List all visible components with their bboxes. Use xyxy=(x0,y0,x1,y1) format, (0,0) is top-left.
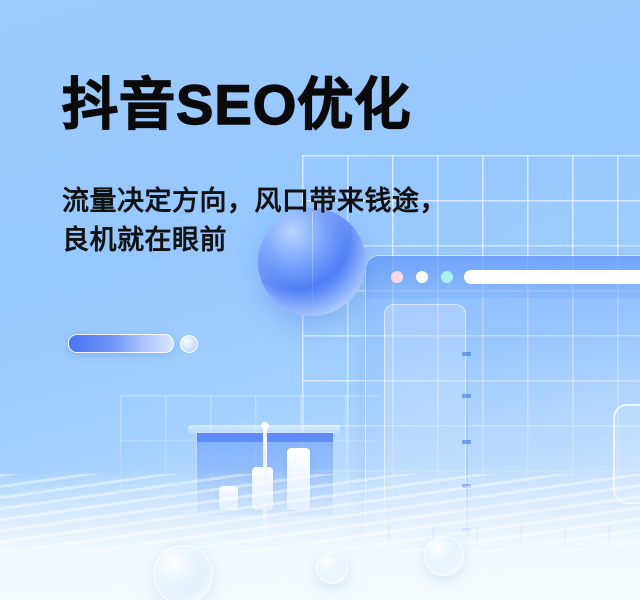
page-title: 抖音SEO优化 xyxy=(62,76,411,135)
traffic-light-pink-icon xyxy=(391,271,403,283)
page-subtitle: 流量决定方向，风口带来钱途， 良机就在眼前 xyxy=(62,182,447,260)
progress-slider[interactable] xyxy=(68,330,196,356)
panel-tick-2 xyxy=(462,394,471,398)
subtitle-line-2: 良机就在眼前 xyxy=(62,221,447,260)
glass-bubble-right xyxy=(424,536,464,576)
floor-streaks xyxy=(0,474,640,552)
subtitle-line-1: 流量决定方向，风口带来钱途， xyxy=(62,182,447,221)
traffic-light-white-icon xyxy=(416,271,428,283)
panel-tick-1 xyxy=(462,352,471,356)
glass-bubble-left xyxy=(153,545,213,600)
traffic-light-cyan-icon xyxy=(441,271,453,283)
browser-titlebar xyxy=(366,256,640,298)
address-bar[interactable] xyxy=(464,270,640,284)
banner-stage: 抖音SEO优化 流量决定方向，风口带来钱途， 良机就在眼前 xyxy=(0,0,640,600)
slider-knob[interactable] xyxy=(180,335,198,353)
glass-bubble-mid xyxy=(316,552,348,584)
panel-tick-3 xyxy=(462,440,471,444)
slider-track[interactable] xyxy=(68,334,174,353)
